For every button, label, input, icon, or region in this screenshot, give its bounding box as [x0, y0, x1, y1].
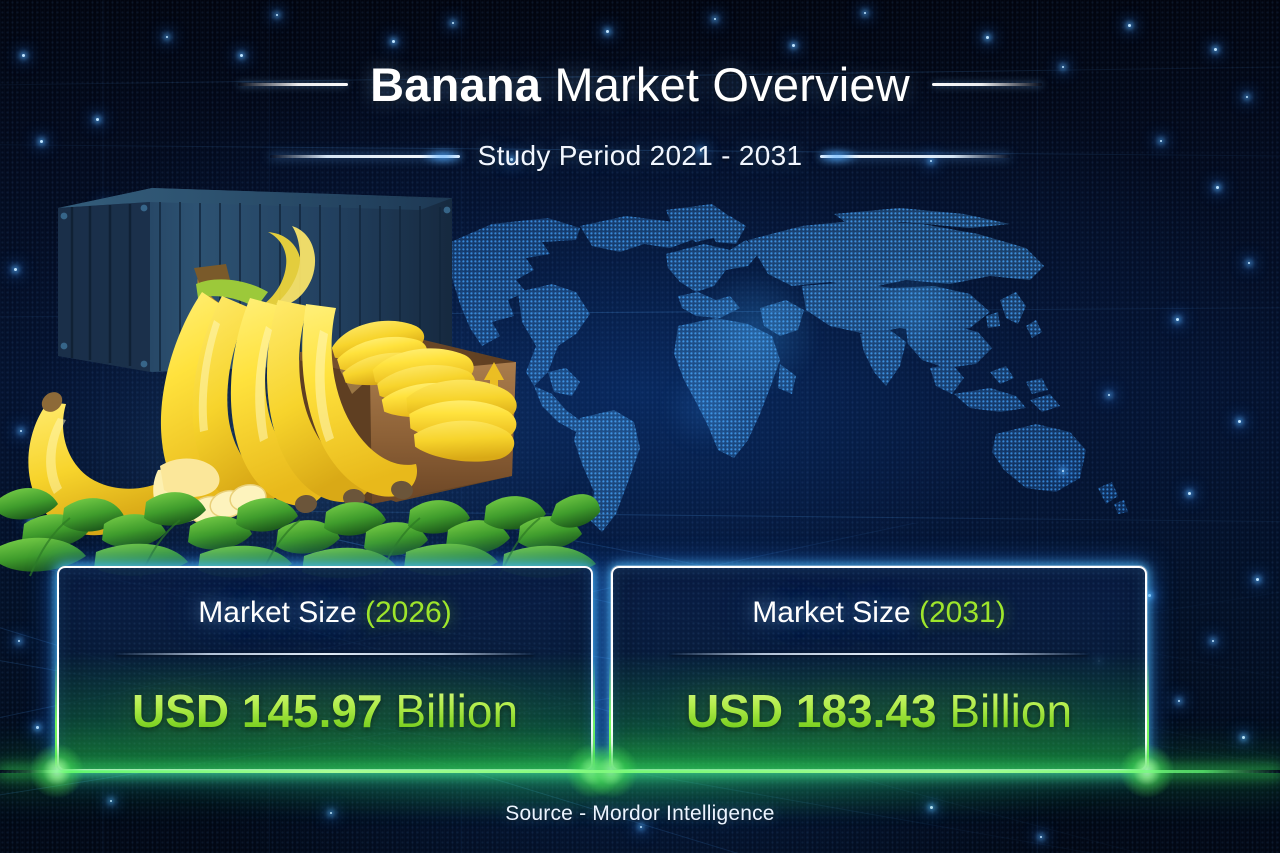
market-size-card-2031[interactable]: Market Size (2031) USD 183.43 Billion [611, 566, 1147, 771]
bottom-light-beam [0, 770, 1280, 773]
card-value-unit: Billion [937, 685, 1073, 737]
card-label-text: Market Size [752, 596, 919, 629]
card-value: USD 145.97 Billion [57, 684, 593, 738]
title-row: Banana Market Overview [0, 60, 1280, 109]
card-label: Market Size (2026) [57, 596, 593, 630]
source-credit: Source - Mordor Intelligence [0, 802, 1280, 826]
card-label-year: (2031) [919, 596, 1006, 629]
card-value-amount: USD 183.43 [686, 685, 937, 737]
market-size-card-2026[interactable]: Market Size (2026) USD 145.97 Billion [57, 566, 593, 771]
card-value-unit: Billion [383, 685, 519, 737]
title-rule-right [932, 83, 1042, 86]
card-label-year: (2026) [365, 596, 452, 629]
page-title-strong: Banana [370, 58, 541, 111]
title-rule-left [238, 83, 348, 86]
page-title: Banana Market Overview [370, 60, 910, 109]
subtitle-rule-left [270, 155, 460, 158]
study-period-subtitle: Study Period 2021 - 2031 [478, 140, 803, 172]
infographic-poster: Banana Market Overview Study Period 2021… [0, 0, 1280, 853]
subtitle-row: Study Period 2021 - 2031 [0, 140, 1280, 172]
subtitle-rule-right [820, 155, 1010, 158]
banana-illustration [0, 180, 600, 580]
stat-cards: Market Size (2026) USD 145.97 Billion Ma… [57, 566, 1147, 771]
card-label: Market Size (2031) [611, 596, 1147, 630]
card-divider [116, 653, 534, 655]
card-label-text: Market Size [198, 596, 365, 629]
card-value-amount: USD 145.97 [132, 685, 383, 737]
page-title-rest: Market Overview [541, 58, 910, 111]
card-value: USD 183.43 Billion [611, 684, 1147, 738]
card-divider [670, 653, 1088, 655]
